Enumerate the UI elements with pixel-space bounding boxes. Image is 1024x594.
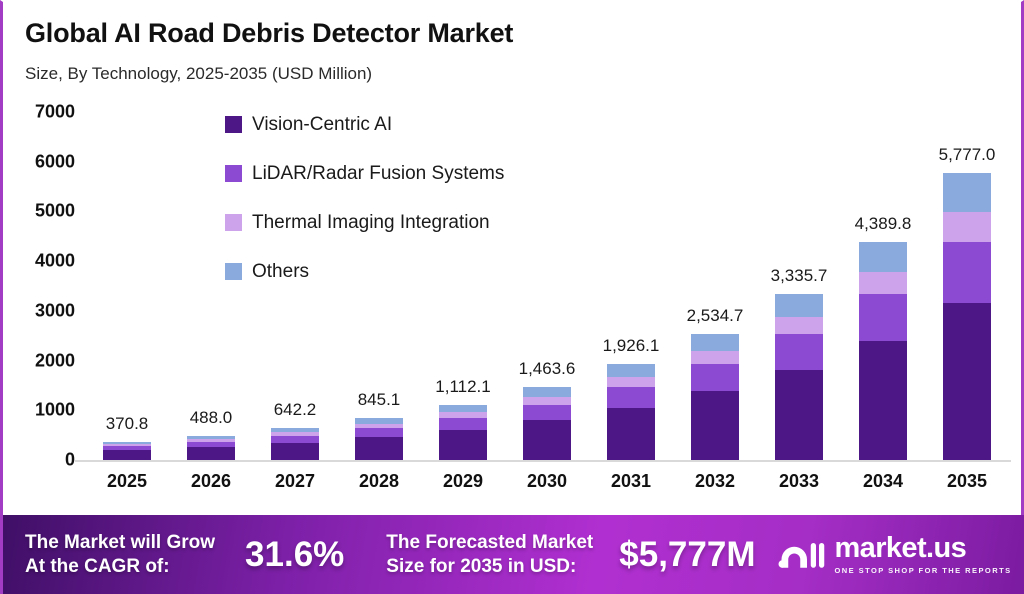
bar-segment[interactable] (775, 317, 823, 334)
bar-group-2029[interactable]: 1,112.12029 (439, 2, 487, 514)
bar-group-2025[interactable]: 370.82025 (103, 2, 151, 514)
bar-value-label: 2,534.7 (645, 306, 785, 326)
bar-segment[interactable] (943, 212, 991, 241)
bar-segment[interactable] (439, 418, 487, 430)
bar-segment[interactable] (943, 303, 991, 460)
bar-stack[interactable] (523, 387, 571, 460)
logo-tagline: ONE STOP SHOP FOR THE REPORTS (834, 566, 1011, 575)
bar-segment[interactable] (775, 294, 823, 317)
bar-segment[interactable] (691, 391, 739, 460)
bar-group-2031[interactable]: 1,926.12031 (607, 2, 655, 514)
bar-stack[interactable] (943, 173, 991, 460)
bar-value-label: 1,112.1 (393, 377, 533, 397)
bar-stack[interactable] (859, 242, 907, 460)
plot-area: 70006000500040003000200010000 Vision-Cen… (3, 2, 1024, 514)
chart-infographic: Global AI Road Debris Detector Market Si… (0, 0, 1024, 594)
bar-segment[interactable] (775, 334, 823, 370)
footer-banner: The Market will Grow At the CAGR of: 31.… (3, 515, 1024, 594)
market-us-logo: market.us ONE STOP SHOP FOR THE REPORTS (777, 534, 1011, 575)
bar-stack[interactable] (691, 334, 739, 460)
bar-segment[interactable] (859, 294, 907, 341)
bar-segment[interactable] (355, 428, 403, 437)
bar-group-2028[interactable]: 845.12028 (355, 2, 403, 514)
y-axis-tick: 7000 (3, 102, 75, 123)
forecast-caption-line2: Size for 2035 in USD: (386, 555, 593, 578)
cagr-value: 31.6% (245, 535, 344, 575)
bar-segment[interactable] (271, 443, 319, 460)
y-axis-tick: 4000 (3, 251, 75, 272)
bar-value-label: 1,926.1 (561, 336, 701, 356)
bar-segment[interactable] (103, 450, 151, 460)
bar-segment[interactable] (859, 242, 907, 272)
bar-segment[interactable] (607, 377, 655, 387)
forecast-value: $5,777M (619, 535, 755, 575)
forecast-caption: The Forecasted Market Size for 2035 in U… (386, 531, 593, 577)
bar-segment[interactable] (943, 173, 991, 212)
bar-stack[interactable] (187, 436, 235, 460)
bar-group-2035[interactable]: 5,777.02035 (943, 2, 991, 514)
bar-segment[interactable] (523, 397, 571, 404)
cagr-caption: The Market will Grow At the CAGR of: (25, 531, 215, 577)
bar-group-2034[interactable]: 4,389.82034 (859, 2, 907, 514)
bar-segment[interactable] (859, 341, 907, 460)
bar-segment[interactable] (439, 405, 487, 413)
bar-segment[interactable] (607, 364, 655, 377)
bar-segment[interactable] (691, 334, 739, 351)
y-axis-tick: 0 (3, 450, 75, 471)
bar-segment[interactable] (439, 430, 487, 460)
bar-value-label: 5,777.0 (897, 145, 1024, 165)
logo-wordmark: market.us (834, 534, 1011, 563)
forecast-caption-line1: The Forecasted Market (386, 531, 593, 554)
market-us-logo-icon (777, 538, 825, 572)
bar-value-label: 4,389.8 (813, 214, 953, 234)
y-axis-tick: 5000 (3, 201, 75, 222)
bar-stack[interactable] (103, 442, 151, 460)
x-axis-tick: 2035 (912, 471, 1022, 492)
bar-segment[interactable] (859, 272, 907, 294)
bar-segment[interactable] (523, 420, 571, 460)
bar-stack[interactable] (271, 428, 319, 460)
y-axis-tick: 6000 (3, 151, 75, 172)
bar-group-2033[interactable]: 3,335.72033 (775, 2, 823, 514)
bar-segment[interactable] (523, 387, 571, 397)
bar-value-label: 1,463.6 (477, 359, 617, 379)
bar-segment[interactable] (187, 447, 235, 460)
bar-segment[interactable] (691, 364, 739, 391)
bar-segment[interactable] (355, 437, 403, 460)
bar-segment[interactable] (943, 242, 991, 304)
bar-group-2032[interactable]: 2,534.72032 (691, 2, 739, 514)
bar-group-2030[interactable]: 1,463.62030 (523, 2, 571, 514)
bar-segment[interactable] (691, 351, 739, 364)
bar-stack[interactable] (775, 294, 823, 460)
bar-value-label: 3,335.7 (729, 266, 869, 286)
market-us-logo-text: market.us ONE STOP SHOP FOR THE REPORTS (834, 534, 1011, 575)
bar-group-2026[interactable]: 488.02026 (187, 2, 235, 514)
bar-segment[interactable] (271, 436, 319, 443)
bar-stack[interactable] (439, 405, 487, 460)
cagr-caption-line1: The Market will Grow (25, 531, 215, 554)
bar-segment[interactable] (607, 408, 655, 460)
bar-group-2027[interactable]: 642.22027 (271, 2, 319, 514)
bar-segment[interactable] (523, 405, 571, 421)
bar-stack[interactable] (607, 364, 655, 460)
bar-stack[interactable] (355, 418, 403, 460)
bar-segment[interactable] (775, 370, 823, 460)
y-axis-tick: 2000 (3, 350, 75, 371)
cagr-caption-line2: At the CAGR of: (25, 555, 215, 578)
y-axis-tick: 3000 (3, 300, 75, 321)
bar-segment[interactable] (607, 387, 655, 408)
